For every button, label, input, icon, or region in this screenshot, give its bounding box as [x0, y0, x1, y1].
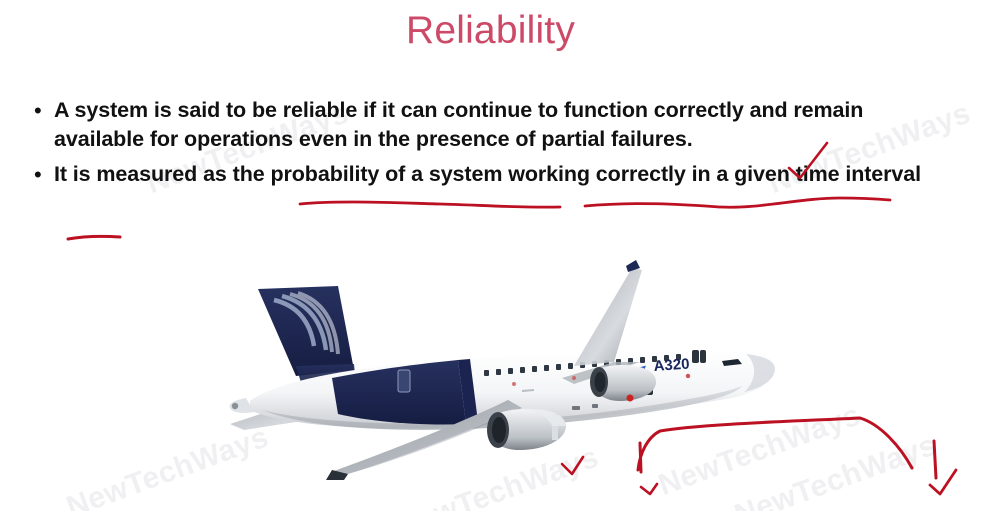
underline-interval [68, 236, 120, 239]
bullet-text: It is measured as the probability of a s… [54, 160, 921, 189]
slide-canvas: NewTechWays NewTechWays NewTechWays NewT… [0, 0, 981, 511]
bracket-right-tick [934, 441, 936, 478]
bullet-marker: • [30, 96, 54, 125]
page-title: Reliability [0, 9, 981, 53]
check-mark-bracket-right-end [930, 470, 956, 494]
svg-text:A320: A320 [653, 356, 690, 375]
bullet-list: • A system is said to be reliable if it … [30, 96, 945, 195]
list-item: • A system is said to be reliable if it … [30, 96, 945, 154]
underline-correctly-in-a-given-time [585, 198, 890, 207]
list-item: • It is measured as the probability of a… [30, 160, 945, 189]
bullet-marker: • [30, 160, 54, 189]
bullet-text: A system is said to be reliable if it ca… [54, 96, 945, 154]
airplane-image: A320 [222, 258, 784, 490]
underline-probability-of-a-system-working [300, 202, 560, 207]
